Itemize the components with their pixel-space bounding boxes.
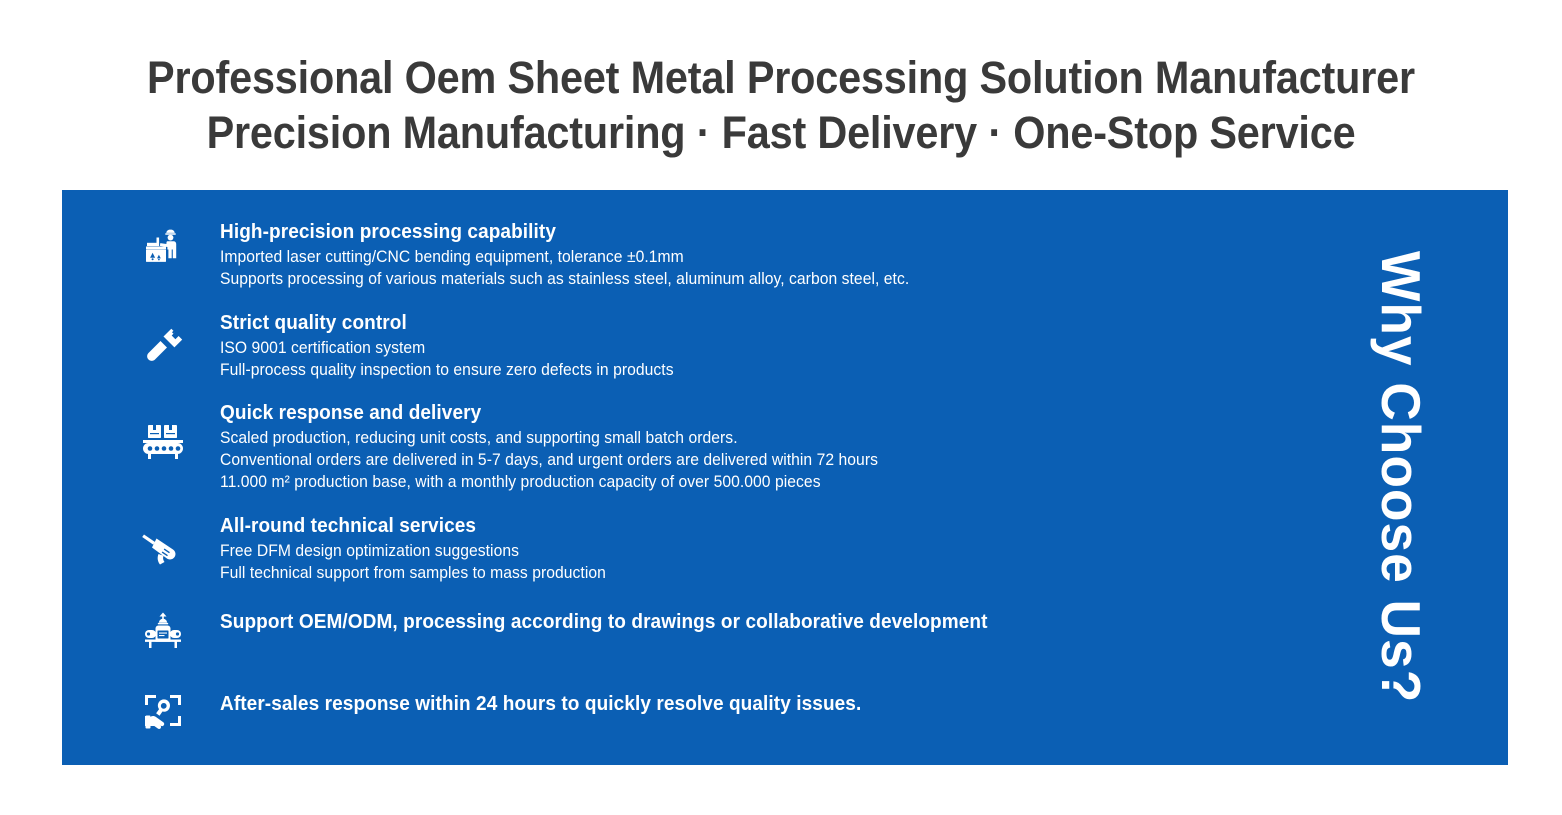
wrench-support-icon: [132, 688, 194, 732]
headline-line-2: Precision Manufacturing · Fast Delivery …: [62, 105, 1499, 160]
feature-body: All-round technical services Free DFM de…: [194, 514, 626, 584]
feature-item-high-precision: High-precision processing capability Imp…: [132, 220, 1262, 290]
feature-title: Quick response and delivery: [220, 401, 878, 426]
headline-line-1: Professional Oem Sheet Metal Processing …: [62, 50, 1499, 105]
feature-line: 11.000 m² production base, with a monthl…: [220, 471, 878, 493]
side-title: Why Choose Us?: [1372, 190, 1430, 765]
feature-statement: After-sales response within 24 hours to …: [220, 691, 861, 717]
feature-title: Strict quality control: [220, 311, 674, 336]
feature-item-technical-services: All-round technical services Free DFM de…: [132, 514, 1262, 584]
feature-title: High-precision processing capability: [220, 220, 909, 245]
feature-statement: Support OEM/ODM, processing according to…: [220, 609, 988, 635]
feature-title: All-round technical services: [220, 514, 606, 539]
feature-body: Quick response and delivery Scaled produ…: [194, 401, 913, 493]
feature-item-quick-delivery: Quick response and delivery Scaled produ…: [132, 401, 1262, 493]
feature-list: High-precision processing capability Imp…: [132, 220, 1262, 732]
feature-line: Scaled production, reducing unit costs, …: [220, 427, 878, 449]
feature-line: Supports processing of various materials…: [220, 268, 909, 290]
feature-line: ISO 9001 certification system: [220, 337, 674, 359]
feature-line: Free DFM design optimization suggestions: [220, 540, 606, 562]
feature-body: Support OEM/ODM, processing according to…: [194, 606, 1028, 635]
feature-line: Full-process quality inspection to ensur…: [220, 359, 674, 381]
page-headline: Professional Oem Sheet Metal Processing …: [0, 50, 1562, 160]
feature-item-quality-control: Strict quality control ISO 9001 certific…: [132, 311, 1262, 381]
feature-body: Strict quality control ISO 9001 certific…: [194, 311, 697, 381]
feature-item-after-sales: After-sales response within 24 hours to …: [132, 688, 1262, 732]
conveyor-belt-icon: [132, 401, 194, 461]
feature-line: Conventional orders are delivered in 5-7…: [220, 449, 878, 471]
drafting-worker-icon: [132, 606, 194, 652]
why-choose-us-panel: High-precision processing capability Imp…: [62, 190, 1508, 765]
feature-line: Full technical support from samples to m…: [220, 562, 606, 584]
feature-body: High-precision processing capability Imp…: [194, 220, 946, 290]
worker-at-machine-icon: [132, 220, 194, 270]
power-drill-icon: [132, 514, 194, 572]
feature-line: Imported laser cutting/CNC bending equip…: [220, 246, 909, 268]
side-title-text: Why Choose Us?: [1372, 251, 1430, 703]
feature-body: After-sales response within 24 hours to …: [194, 688, 895, 717]
hammer-icon: [132, 311, 194, 367]
feature-item-oem-odm: Support OEM/ODM, processing according to…: [132, 606, 1262, 652]
